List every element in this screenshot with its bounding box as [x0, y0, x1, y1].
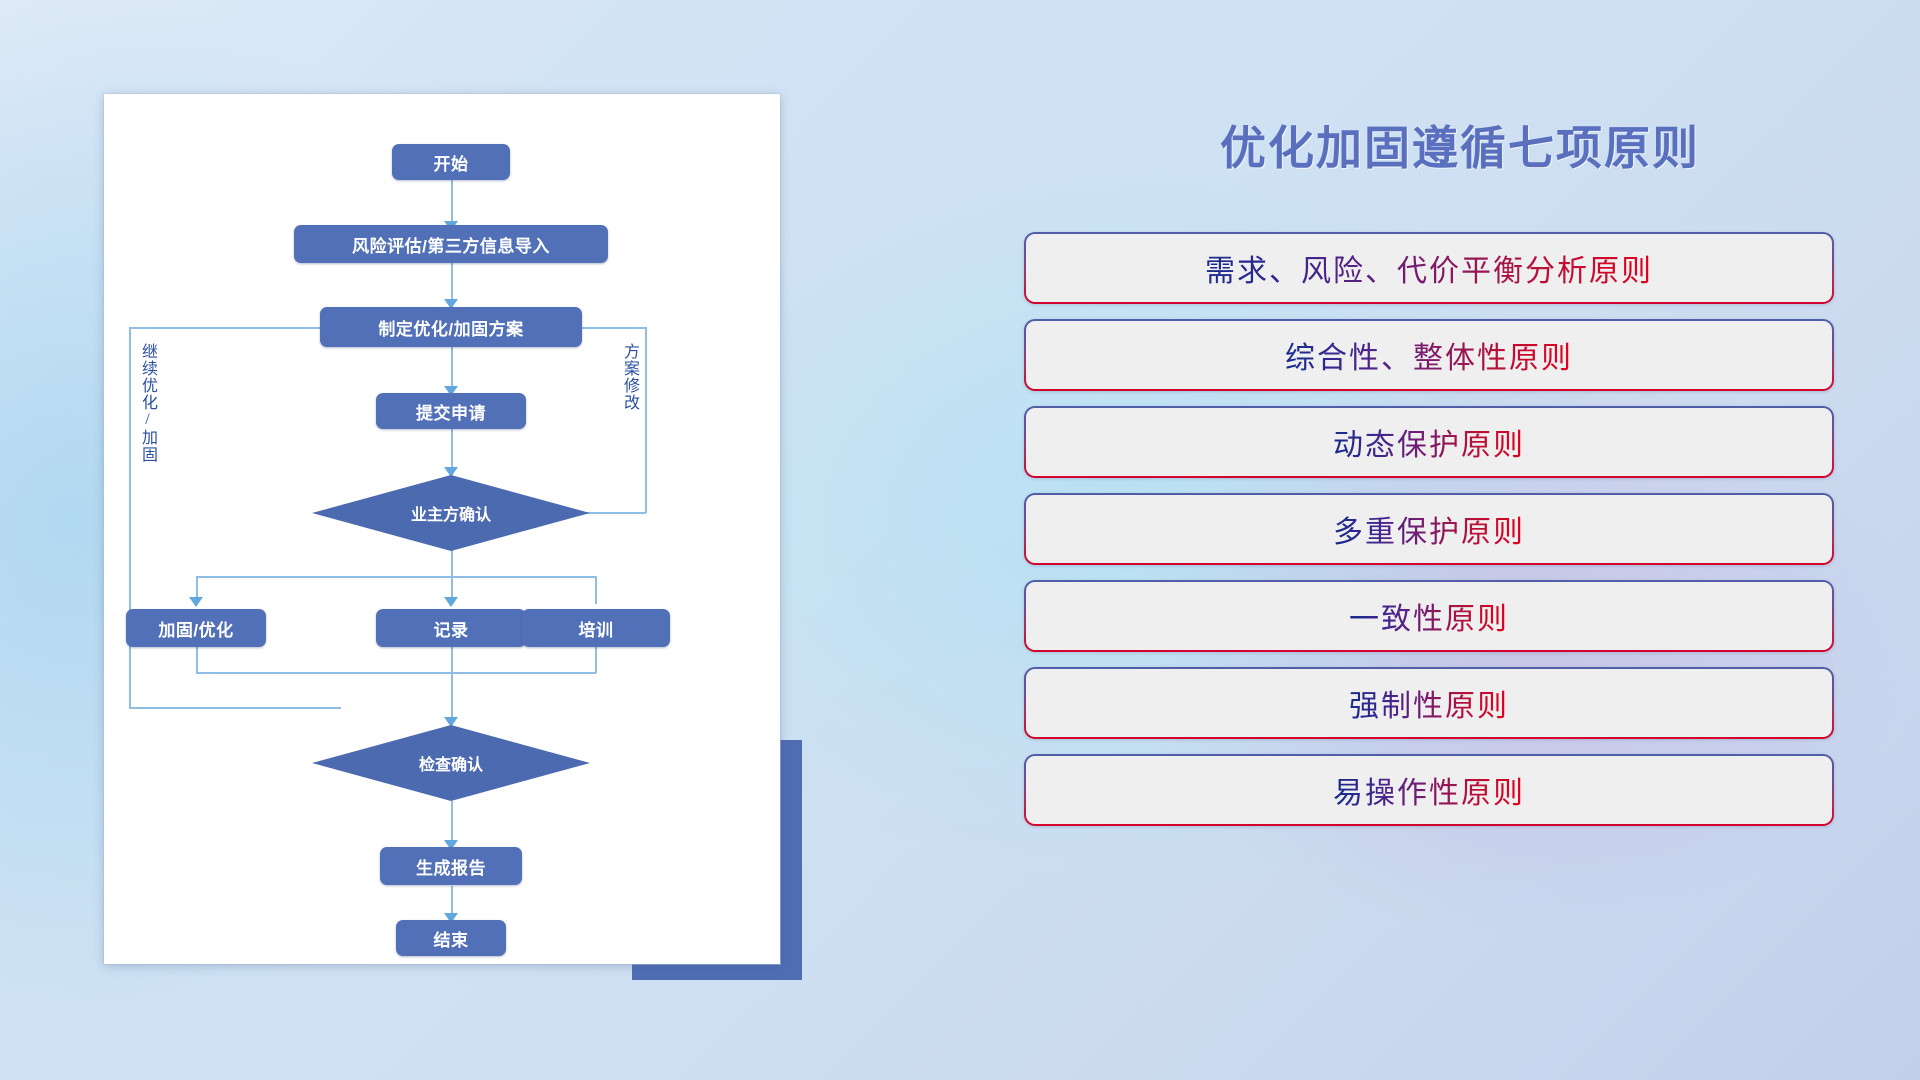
principle-label: 强制性原则: [1349, 681, 1509, 725]
arrow-bus-reinforce: [189, 597, 203, 607]
principle-label: 一致性原则: [1349, 594, 1509, 638]
node-reinforce-optimize-label: 加固/优化: [158, 616, 233, 641]
principles-panel: 优化加固遵循七项原则 需求、风险、代价平衡分析原则 综合性、整体性原则 动态保护…: [1000, 0, 1920, 1080]
principle-card-inner: 易操作性原则: [1026, 756, 1832, 824]
principle-card[interactable]: 一致性原则: [1024, 580, 1834, 652]
node-risk-assessment[interactable]: 风险评估/第三方信息导入: [294, 225, 608, 263]
principle-card-inner: 需求、风险、代价平衡分析原则: [1026, 234, 1832, 302]
node-end[interactable]: 结束: [396, 920, 506, 956]
principle-label: 需求、风险、代价平衡分析原则: [1205, 246, 1653, 290]
node-check-confirm-label: 检查确认: [419, 751, 483, 775]
node-generate-report-label: 生成报告: [416, 854, 486, 879]
principle-card[interactable]: 多重保护原则: [1024, 493, 1834, 565]
arrow-bus-record: [444, 597, 458, 607]
node-reinforce-optimize[interactable]: 加固/优化: [126, 609, 266, 647]
node-start[interactable]: 开始: [392, 144, 510, 180]
node-plan[interactable]: 制定优化/加固方案: [320, 307, 582, 347]
node-record[interactable]: 记录: [376, 609, 526, 647]
principle-label: 综合性、整体性原则: [1285, 333, 1573, 377]
principle-card[interactable]: 需求、风险、代价平衡分析原则: [1024, 232, 1834, 304]
connector-training-down: [595, 646, 597, 673]
connector-left-into-plan: [129, 327, 341, 329]
principle-card[interactable]: 易操作性原则: [1024, 754, 1834, 826]
node-submit-application[interactable]: 提交申请: [376, 393, 526, 429]
connector-merge-to-check: [451, 646, 453, 724]
node-start-label: 开始: [434, 150, 469, 175]
node-owner-confirm[interactable]: 业主方确认: [312, 475, 590, 551]
principle-label: 易操作性原则: [1333, 768, 1525, 812]
page-title: 优化加固遵循七项原则: [1140, 112, 1780, 178]
principle-card-inner: 一致性原则: [1026, 582, 1832, 650]
node-check-confirm[interactable]: 检查确认: [312, 725, 590, 801]
node-plan-label: 制定优化/加固方案: [378, 315, 523, 340]
connector-left-loop-bottom: [129, 707, 341, 709]
principle-card-inner: 综合性、整体性原则: [1026, 321, 1832, 389]
edge-label-continue-optimize: 继续优化/加固: [138, 343, 155, 463]
node-record-label: 记录: [434, 616, 469, 641]
principle-label: 多重保护原则: [1333, 507, 1525, 551]
principle-card-inner: 强制性原则: [1026, 669, 1832, 737]
flowchart-canvas: 开始 风险评估/第三方信息导入 制定优化/加固方案 提交申请 业主方确认 加固/…: [104, 94, 780, 964]
connector-merge-bus: [196, 672, 596, 674]
connector-reinforce-down: [196, 646, 198, 673]
principle-card[interactable]: 综合性、整体性原则: [1024, 319, 1834, 391]
principle-label: 动态保护原则: [1333, 420, 1525, 464]
node-end-label: 结束: [434, 926, 469, 951]
node-owner-confirm-label: 业主方确认: [411, 501, 491, 525]
principle-card[interactable]: 强制性原则: [1024, 667, 1834, 739]
node-submit-application-label: 提交申请: [416, 399, 486, 424]
connector-start-risk: [451, 177, 453, 227]
principles-list: 需求、风险、代价平衡分析原则 综合性、整体性原则 动态保护原则 多重保护原则 一…: [1024, 232, 1834, 841]
edge-label-plan-revision: 方案修改: [620, 343, 637, 411]
principle-card[interactable]: 动态保护原则: [1024, 406, 1834, 478]
node-training[interactable]: 培训: [522, 609, 670, 647]
principle-card-inner: 动态保护原则: [1026, 408, 1832, 476]
connector-right-up: [645, 327, 647, 513]
connector-bus-to-training: [595, 576, 597, 604]
node-generate-report[interactable]: 生成报告: [380, 847, 522, 885]
principle-card-inner: 多重保护原则: [1026, 495, 1832, 563]
node-risk-assessment-label: 风险评估/第三方信息导入: [352, 232, 550, 257]
node-training-label: 培训: [579, 616, 614, 641]
connector-branch-bus: [196, 576, 596, 578]
connector-owner-down: [451, 549, 453, 577]
connector-left-loop-vert: [129, 327, 131, 708]
flowchart-panel: 开始 风险评估/第三方信息导入 制定优化/加固方案 提交申请 业主方确认 加固/…: [0, 0, 880, 1080]
